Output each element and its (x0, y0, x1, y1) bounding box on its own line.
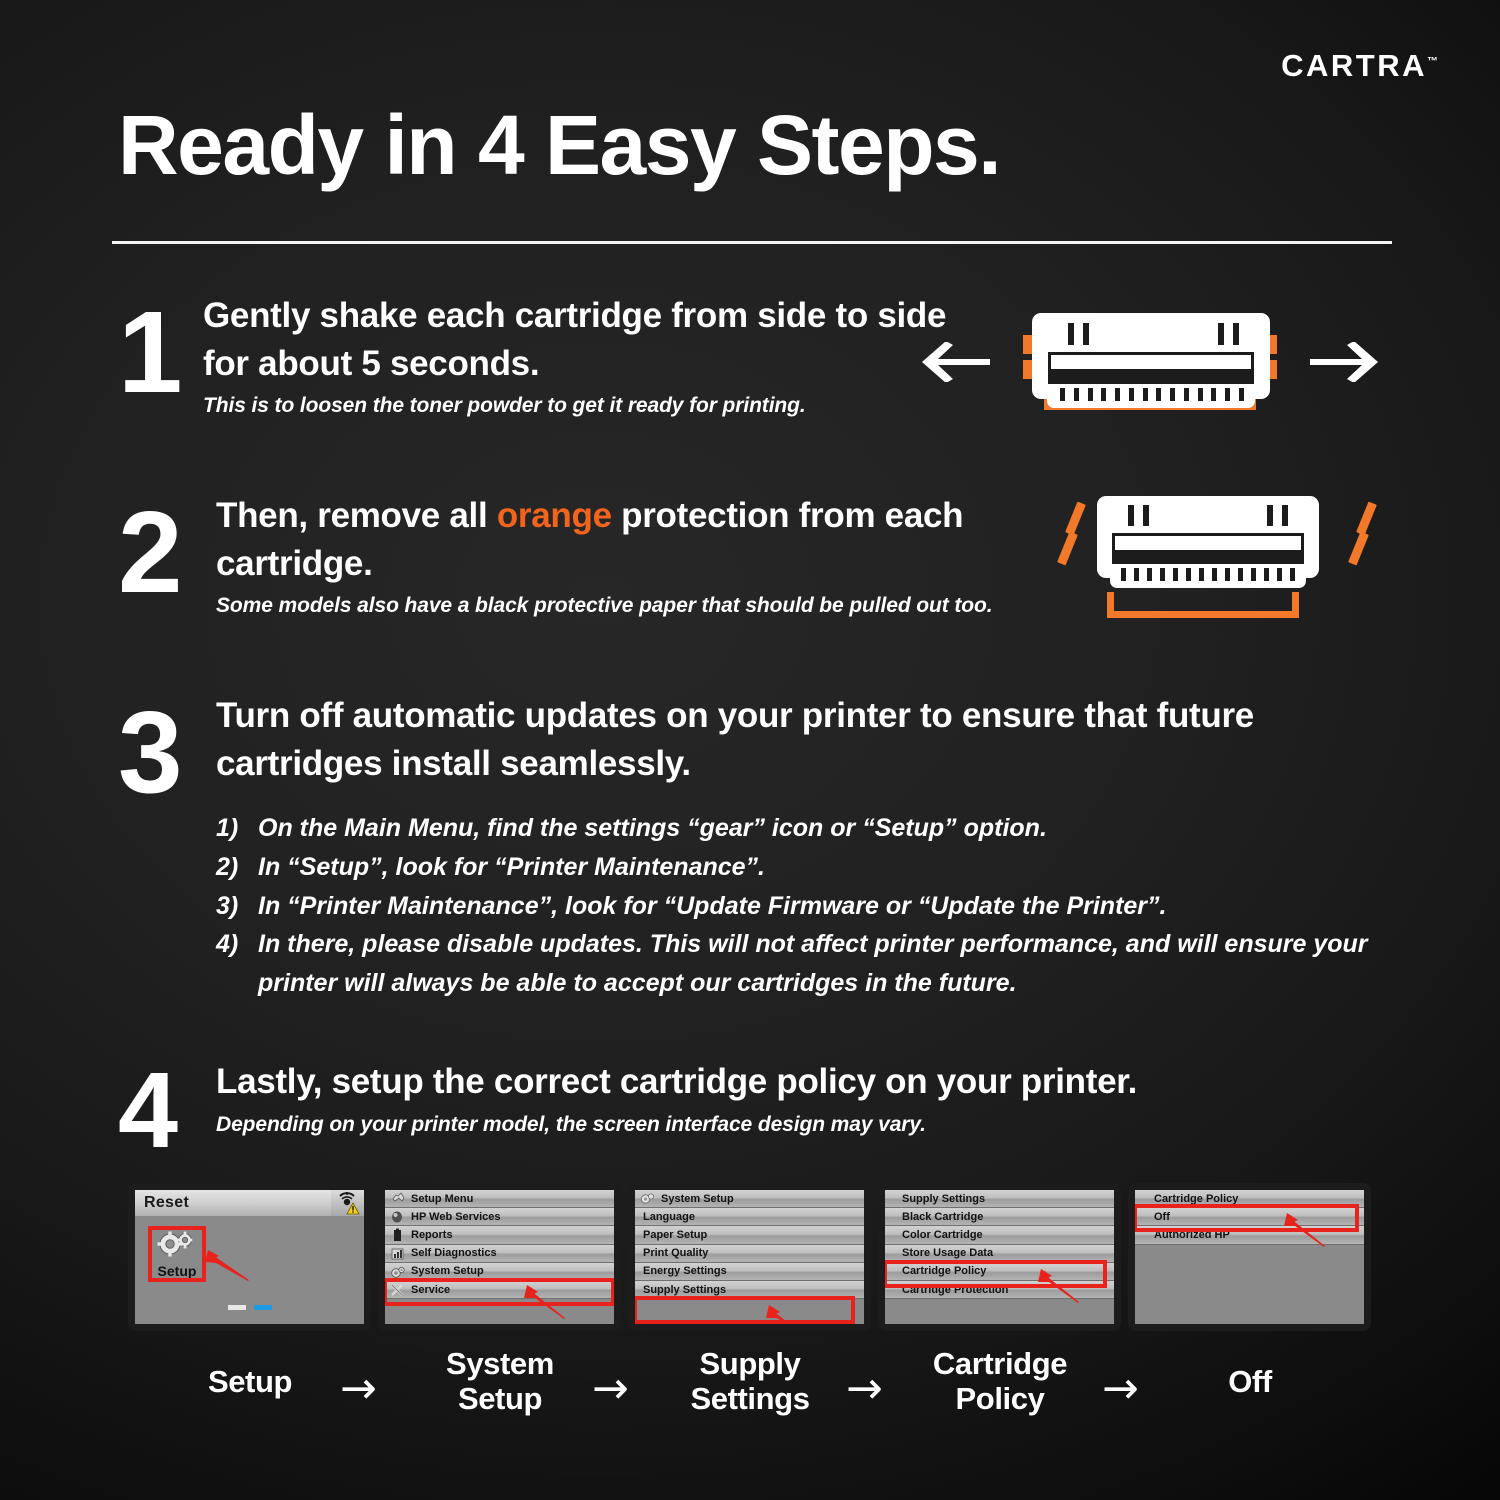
red-pointer-arrow (1037, 1266, 1085, 1304)
step-3-headline: Turn off automatic updates on your print… (216, 692, 1408, 787)
menu-item-label: System Setup (411, 1265, 484, 1277)
panel-system-setup-screen: System Setup Language Paper Setup Print … (635, 1190, 864, 1324)
sublist-marker: 3) (216, 887, 258, 926)
reset-label[interactable]: Reset (144, 1194, 189, 1212)
menu-item-label: Reports (411, 1229, 453, 1241)
flow-label-off: Off (1150, 1365, 1350, 1400)
setup-tile-label: Setup (150, 1263, 204, 1279)
menu-item-label: Cartridge Policy (1154, 1193, 1238, 1205)
cloud-icon (390, 1210, 405, 1224)
menu-item-label: Paper Setup (643, 1229, 707, 1241)
removed-orange-piece (1065, 502, 1086, 536)
menu-item-language[interactable]: Language (635, 1208, 864, 1226)
menu-item-label: Service (411, 1284, 450, 1296)
sublist-marker: 2) (216, 848, 258, 887)
panel-supply-settings[interactable]: Supply Settings Black Cartridge Color Ca… (878, 1183, 1121, 1331)
arrow-left-icon (920, 342, 990, 382)
panel-supply-settings-screen: Supply Settings Black Cartridge Color Ca… (885, 1190, 1114, 1324)
menu-item-black-cartridge[interactable]: Black Cartridge (885, 1208, 1114, 1226)
menu-item-label: Cartridge Policy (902, 1265, 986, 1277)
page-title: Ready in 4 Easy Steps. (118, 104, 1000, 186)
step-2-headline: Then, remove all orange protection from … (216, 492, 1018, 587)
printer-screen-sequence: Reset (0, 1183, 1500, 1331)
step-4: 4 Lastly, setup the correct cartridge po… (118, 1058, 1408, 1138)
step-3: 3 Turn off automatic updates on your pri… (118, 692, 1408, 1003)
step-2-headline-accent: orange (497, 496, 612, 535)
menu-item-label: Black Cartridge (902, 1211, 983, 1223)
sublist-text: In there, please disable updates. This w… (258, 925, 1408, 1003)
removed-orange-piece (1057, 532, 1078, 566)
menu-item-paper-setup[interactable]: Paper Setup (635, 1226, 864, 1244)
red-pointer-arrow (765, 1302, 813, 1324)
step-1-number: 1 (118, 294, 183, 410)
cartridge-shake-illustration (920, 300, 1380, 425)
menu-item-color-cartridge[interactable]: Color Cartridge (885, 1226, 1114, 1244)
menu-item-label: Supply Settings (643, 1284, 726, 1296)
red-pointer-arrow (523, 1282, 571, 1320)
cartridge-drum-slot (1112, 533, 1304, 564)
step-1-subtext: This is to loosen the toner powder to ge… (203, 392, 948, 419)
step-3-sublist: 1)On the Main Menu, find the settings “g… (216, 809, 1408, 1003)
step-4-subtext: Depending on your printer model, the scr… (216, 1111, 1408, 1138)
setup-tile[interactable]: Setup (150, 1230, 204, 1279)
cartridge-notch (1143, 505, 1149, 526)
clipboard-icon (390, 1228, 405, 1242)
red-pointer-arrow (1283, 1210, 1331, 1248)
panel-system-setup[interactable]: System Setup Language Paper Setup Print … (628, 1183, 871, 1331)
panel-cartridge-policy-screen: Cartridge Policy Off Authorized HP (1135, 1190, 1364, 1324)
cartridge-contact-comb (1060, 388, 1244, 401)
red-pointer-arrow (203, 1248, 251, 1282)
sublist-item: 1)On the Main Menu, find the settings “g… (216, 809, 1408, 848)
gears-icon (150, 1230, 204, 1257)
gears-icon (390, 1265, 405, 1279)
panel-setup-menu-screen: Setup Menu HP Web Services Reports Self … (385, 1190, 614, 1324)
cartridge-notch (1218, 323, 1224, 345)
flow-label-cartridge-policy: Cartridge Policy (900, 1347, 1100, 1416)
tools-icon (390, 1283, 405, 1297)
arrow-right-icon (1310, 342, 1380, 382)
cartridge-notch (1267, 505, 1273, 526)
cartridge-notch (1068, 323, 1074, 345)
menu-header-system-setup: System Setup (635, 1190, 864, 1208)
menu-item-label: Self Diagnostics (411, 1247, 497, 1259)
brand-logo: CARTRA™ (1281, 48, 1438, 84)
flow-label-supply-settings: Supply Settings (650, 1347, 850, 1416)
removed-orange-piece (1356, 502, 1377, 536)
poster-canvas: CARTRA™ Ready in 4 Easy Steps. 1 Gently … (0, 0, 1500, 1500)
panel-setup-menu[interactable]: Setup Menu HP Web Services Reports Self … (378, 1183, 621, 1331)
menu-item-label: Off (1154, 1211, 1170, 1223)
panel-setup[interactable]: Reset (128, 1183, 371, 1331)
menu-item-setup-menu[interactable]: Setup Menu (385, 1190, 614, 1208)
menu-item-label: Store Usage Data (902, 1247, 993, 1259)
panel-setup-statusbar: Reset (135, 1190, 364, 1216)
cartridge-notch (1128, 505, 1134, 526)
sublist-text: On the Main Menu, find the settings “gea… (258, 809, 1408, 848)
title-divider (112, 241, 1392, 244)
menu-item-energy-settings[interactable]: Energy Settings (635, 1263, 864, 1281)
highlight-box-supply-settings (635, 1296, 855, 1324)
flow-arrow-3: → (846, 1367, 883, 1411)
page-dot[interactable] (228, 1305, 246, 1310)
cartridge-notch (1282, 505, 1288, 526)
flow-label-system-setup: System Setup (400, 1347, 600, 1416)
wrench-icon (390, 1192, 405, 1206)
menu-item-label: Authorized HP (1154, 1229, 1230, 1241)
menu-item-hp-web-services[interactable]: HP Web Services (385, 1208, 614, 1226)
menu-item-print-quality[interactable]: Print Quality (635, 1245, 864, 1263)
sublist-marker: 1) (216, 809, 258, 848)
menu-item-system-setup[interactable]: System Setup (385, 1263, 614, 1281)
cartridge-drum-slot (1048, 352, 1254, 384)
sublist-marker: 4) (216, 925, 258, 1003)
menu-item-label: Energy Settings (643, 1265, 727, 1277)
chart-icon (390, 1247, 405, 1261)
sublist-text: In “Setup”, look for “Printer Maintenanc… (258, 848, 1408, 887)
menu-item-label: Color Cartridge (902, 1229, 983, 1241)
flow-arrow-2: → (592, 1367, 629, 1411)
step-1: 1 Gently shake each cartridge from side … (118, 292, 948, 419)
sublist-text: In “Printer Maintenance”, look for “Upda… (258, 887, 1408, 926)
removed-orange-bracket (1107, 592, 1299, 618)
menu-header-cartridge-policy: Cartridge Policy (1135, 1190, 1364, 1208)
flow-arrow-4: → (1102, 1367, 1139, 1411)
cartridge-notch (1233, 323, 1239, 345)
page-dot-active[interactable] (254, 1305, 272, 1310)
step-2-number: 2 (118, 494, 183, 610)
panel-cartridge-policy[interactable]: Cartridge Policy Off Authorized HP (1128, 1183, 1371, 1331)
flow-arrow-1: → (340, 1367, 377, 1411)
menu-item-label: System Setup (661, 1193, 734, 1205)
sublist-item: 2)In “Setup”, look for “Printer Maintena… (216, 848, 1408, 887)
menu-item-self-diagnostics[interactable]: Self Diagnostics (385, 1245, 614, 1263)
panel-setup-screen: Reset (135, 1190, 364, 1324)
menu-item-label: Cartridge Protection (902, 1284, 1008, 1296)
trademark-symbol: ™ (1427, 56, 1438, 68)
flow-label-setup: Setup (150, 1365, 350, 1400)
sublist-item: 3)In “Printer Maintenance”, look for “Up… (216, 887, 1408, 926)
menu-item-label: Setup Menu (411, 1193, 473, 1205)
menu-item-supply-settings[interactable]: Supply Settings (635, 1281, 864, 1299)
gears-icon (640, 1192, 655, 1206)
menu-item-reports[interactable]: Reports (385, 1226, 614, 1244)
menu-item-label: Supply Settings (902, 1193, 985, 1205)
step-3-number: 3 (118, 694, 183, 810)
step-4-number: 4 (118, 1056, 178, 1164)
step-2: 2 Then, remove all orange protection fro… (118, 492, 1018, 619)
menu-item-service[interactable]: Service (385, 1281, 614, 1299)
sublist-item: 4)In there, please disable updates. This… (216, 925, 1408, 1003)
step-1-headline: Gently shake each cartridge from side to… (203, 292, 948, 387)
wifi-warning-icon (331, 1190, 364, 1216)
menu-item-store-usage-data[interactable]: Store Usage Data (885, 1245, 1114, 1263)
menu-item-label: Print Quality (643, 1247, 708, 1259)
menu-item-label: HP Web Services (411, 1211, 500, 1223)
step-2-subtext: Some models also have a black protective… (216, 592, 1018, 619)
cartridge-remove-protection-illustration (1055, 488, 1385, 628)
step-2-headline-pre: Then, remove all (216, 496, 497, 535)
cartridge-contact-comb (1121, 568, 1295, 581)
step-4-headline: Lastly, setup the correct cartridge poli… (216, 1058, 1408, 1106)
brand-name: CARTRA (1281, 48, 1427, 83)
pagination-dots (135, 1297, 364, 1315)
flow-labels: Setup → System Setup → Supply Settings →… (0, 1345, 1500, 1435)
cartridge-notch (1083, 323, 1089, 345)
removed-orange-piece (1348, 532, 1369, 566)
menu-header-supply-settings: Supply Settings (885, 1190, 1114, 1208)
menu-item-label: Language (643, 1211, 695, 1223)
